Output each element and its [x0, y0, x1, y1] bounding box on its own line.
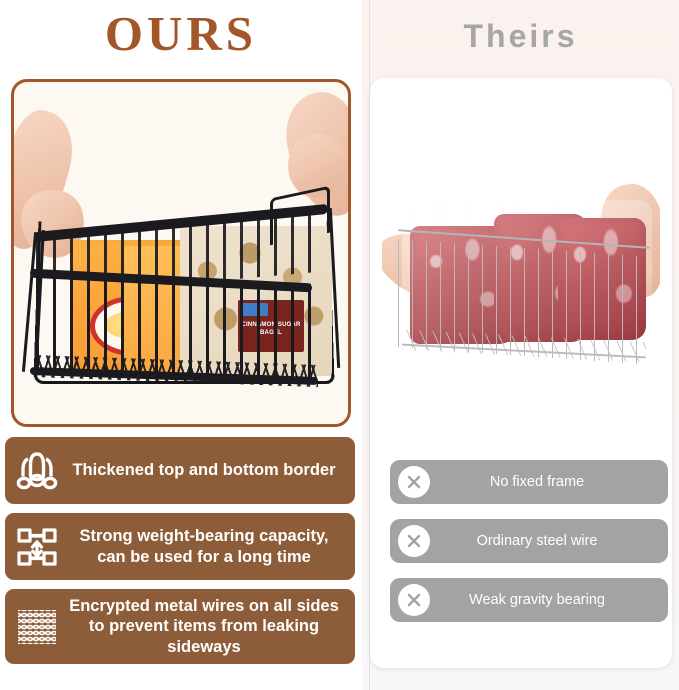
ours-feature-row-1: Thickened top and bottom border — [5, 437, 355, 504]
ours-feature-row-2: Strong weight-bearing capacity, can be u… — [5, 513, 355, 580]
theirs-card: No fixed frame Ordinary steel wire — [370, 78, 672, 668]
ours-title: OURS — [0, 0, 362, 62]
ours-wire-basket: CINNAMON SUGAR BAGEL — [28, 192, 336, 392]
theirs-feature-row-2: Ordinary steel wire — [390, 519, 668, 563]
ours-panel: OURS CINNAM — [0, 0, 362, 690]
ours-feature-label-1: Thickened top and bottom border — [61, 460, 345, 480]
ours-feature-label-3: Encrypted metal wires on all sides to pr… — [61, 596, 345, 657]
theirs-product-photo — [382, 88, 660, 436]
theirs-feature-list: No fixed frame Ordinary steel wire — [390, 460, 668, 637]
theirs-feature-row-1: No fixed frame — [390, 460, 668, 504]
mesh-wire-icon — [13, 603, 61, 651]
theirs-feature-label-3: Weak gravity bearing — [430, 592, 660, 608]
theirs-feature-label-2: Ordinary steel wire — [430, 533, 660, 549]
theirs-title: Theirs — [362, 0, 679, 62]
weight-bearing-icon — [13, 523, 61, 571]
ours-photo-scene: CINNAMON SUGAR BAGEL — [14, 82, 348, 424]
ours-product-photo: CINNAMON SUGAR BAGEL — [11, 79, 351, 427]
ours-feature-row-3: Encrypted metal wires on all sides to pr… — [5, 589, 355, 664]
ours-feature-list: Thickened top and bottom border Strong w… — [5, 437, 355, 673]
x-circle-icon — [398, 466, 430, 498]
comparison-infographic: OURS CINNAM — [0, 0, 679, 690]
theirs-wire-basket — [398, 232, 650, 372]
ours-feature-label-2: Strong weight-bearing capacity, can be u… — [61, 526, 345, 567]
x-circle-icon — [398, 584, 430, 616]
theirs-feature-label-1: No fixed frame — [430, 474, 660, 490]
thick-border-icon — [13, 447, 61, 495]
x-circle-icon — [398, 525, 430, 557]
theirs-feature-row-3: Weak gravity bearing — [390, 578, 668, 622]
panel-divider — [369, 0, 370, 690]
theirs-panel: Theirs — [362, 0, 679, 690]
